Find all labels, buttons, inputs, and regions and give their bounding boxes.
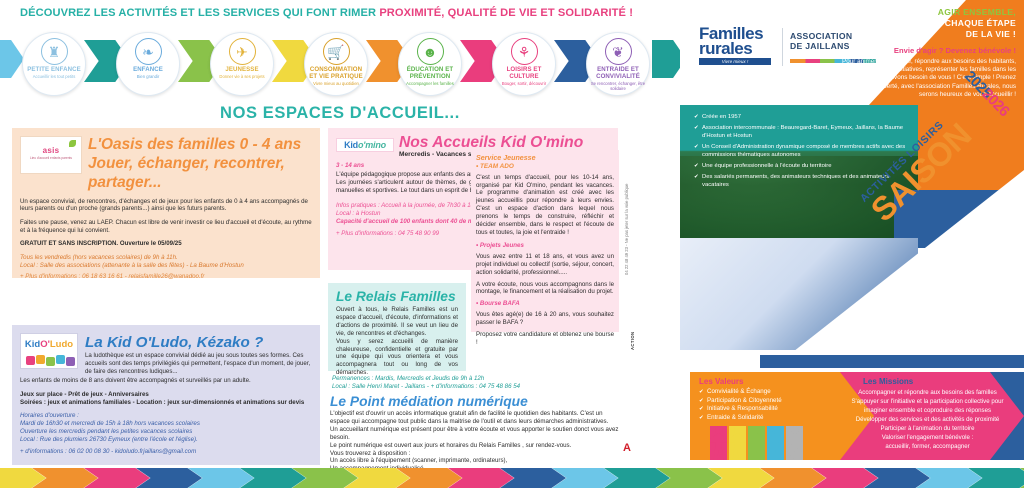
mission-item-5: Valoriser l'engagement bénévole : (840, 433, 1015, 442)
oasis-p4b: Local : Salle des associations (attenant… (20, 262, 312, 270)
oasis-p5: + Plus d'informations : 06 18 63 16 61 -… (20, 273, 312, 281)
relais-heading: Le Relais Familles (336, 289, 458, 304)
sports-icon: ⚘ (511, 38, 538, 65)
right-panel: Familles rurales Vivre mieux ! ASSOCIATI… (680, 0, 1024, 488)
projets-jeunes-title: • Projets Jeunes (476, 242, 614, 250)
credit-notice: Ne pas jeter sur la voie publique (624, 183, 629, 243)
missions-list: Accompagner et répondre aux besoins des … (840, 388, 1015, 451)
top-banner: DÉCOUVREZ LES ACTIVITÉS ET LES SERVICES … (0, 0, 680, 100)
highchair-icon: ♜ (41, 38, 68, 65)
bourse-bafa-body1: Vous êtes agé(e) de 16 à 20 ans, vous so… (476, 311, 614, 327)
poster-page: DÉCOUVREZ LES ACTIVITÉS ET LES SERVICES … (0, 0, 1024, 488)
step-title-2: ENFANCE (117, 66, 179, 73)
slogan-agir: AGIR (913, 7, 938, 17)
leaf-icon (69, 140, 76, 147)
kidoludo-logo: KidO'Ludo (20, 333, 78, 369)
slogan-white1: À CHAQUE ÉTAPE (936, 18, 1016, 28)
logo-divider (782, 28, 783, 66)
ludo-p5: + d'informations : 06 02 00 08 30 - kido… (20, 448, 312, 456)
assoc-heading: L'association en quelques mots : (694, 94, 909, 103)
step-subtitle-2: Bien grandir (117, 74, 179, 79)
step-subtitle-5: Accompagner les familles (399, 81, 461, 86)
step-bubble-2[interactable]: ❧ENFANCEBien grandir (116, 32, 180, 96)
credit-agency: ACTION (630, 332, 635, 350)
familles-rurales-logo: Familles rurales Vivre mieux ! ASSOCIATI… (699, 26, 771, 65)
oasis-logo: asis Lieu d'accueil enfants parents (20, 136, 82, 174)
valeur-item-2: Participation & Citoyenneté (699, 397, 782, 406)
step-chevron-strip: ♜PETITE ENFANCEAccueillir les tout petit… (0, 28, 680, 94)
card-point-numerique: Le Point médiation numérique L'objectif … (330, 394, 620, 464)
step-bubble-5[interactable]: ☻ÉDUCATION ET PRÉVENTIONAccompagner les … (398, 32, 462, 96)
relais-contact: Permanences : Mardis, Mercredis et Jeudi… (332, 375, 617, 391)
step-subtitle-4: Vivre mieux au quotidien (305, 81, 367, 86)
headline: DÉCOUVREZ LES ACTIVITÉS ET LES SERVICES … (20, 7, 670, 19)
panel-service-jeunesse: Service Jeunesse • TEAM ADO C'est un tem… (471, 150, 619, 332)
projets-jeunes-body1: Vous avez entre 11 et 18 ans, et vous av… (476, 253, 614, 277)
ludo-p4a: Horaires d'ouverture : (20, 412, 312, 420)
bourse-bafa-body2: Proposez votre candidature et obtenez un… (476, 331, 614, 347)
kidomino-logo: Kido'mino (336, 138, 394, 152)
projets-jeunes-body2: A votre écoute, nous vous accompagnons d… (476, 281, 614, 297)
saison-year2: 2026 (979, 86, 1012, 119)
step-subtitle-6: Bouger, sortir, découvrir (493, 81, 555, 86)
point-p2: Un accueillant numérique est présent pou… (330, 426, 620, 442)
logo-badge: Vivre mieux ! (699, 58, 771, 65)
point-p3: Le point numérique est ouvert aux jours … (330, 442, 620, 450)
step-title-5: ÉDUCATION ET PRÉVENTION (399, 66, 461, 80)
mission-item-6: accueillir, former, accompagner (840, 442, 1015, 451)
card-oasis: asis Lieu d'accueil enfants parents L'Oa… (12, 128, 320, 278)
mission-item-2: S'appuyer sur l'initiative et la partici… (840, 397, 1015, 415)
card-relais-familles: Le Relais Familles Ouvert à tous, le Rel… (328, 283, 466, 371)
slogan: AGIR AGIR ENSEMBLE, À CHAQUE ÉTAPE DE LA… (831, 7, 1016, 41)
mission-item-3: Développer des services et des activités… (840, 415, 1015, 424)
step-bubble-7[interactable]: ❦ENTRAIDE ET CONVIVIALITÉSe rencontrer, … (586, 32, 650, 96)
valeurs-title: Les Valeurs (699, 377, 743, 386)
point-p5: Un accès libre à l'équipement (scanner, … (330, 457, 620, 465)
credit-agency-name: ACTION (630, 332, 635, 350)
step-bubble-1[interactable]: ♜PETITE ENFANCEAccueillir les tout petit… (22, 32, 86, 96)
kidomino-heading: Nos Accueils Kid O'mino (399, 134, 583, 151)
kidoludo-logo-text: KidO'Ludo (21, 334, 77, 351)
point-heading: Le Point médiation numérique (330, 394, 620, 409)
ludo-p4d: Local : Rue des plumiers 26730 Eymeux (e… (20, 436, 312, 444)
step-title-4: CONSOMMATION ET VIE PRATIQUE (305, 66, 367, 80)
kidomino-o: o'mino (358, 140, 386, 150)
oasis-p4a: Tous les vendredis (hors vacances scolai… (20, 254, 312, 262)
family-face-icon: ☻ (417, 38, 444, 65)
relais-p1: Ouvert à tous, le Relais Familles est un… (336, 306, 458, 338)
headline-part1: DÉCOUVREZ LES ACTIVITÉS ET LES SERVICES … (20, 7, 379, 19)
handshake-icon: ❦ (605, 38, 632, 65)
step-bubble-6[interactable]: ⚘LOISIRS ET CULTUREBouger, sortir, décou… (492, 32, 556, 96)
step-subtitle-1: Accueillir les tout petits (23, 74, 85, 79)
ludo-o: O' (40, 339, 50, 350)
kidomino-k: Kid (344, 140, 358, 150)
section-title: NOS ESPACES D'ACCUEIL... (0, 104, 680, 123)
assoc-item-3: Un Conseil d'Administration dynamique co… (694, 143, 916, 159)
cta-title: Envie d'agir ? Devenez bénévole ! (826, 46, 1016, 55)
megaphone-icon: ✈ (229, 38, 256, 65)
valeurs-missions-strip: Les Valeurs Convivialité & ÉchangePartic… (680, 372, 1024, 460)
ludo-p2: Les enfants de moins de 8 ans doivent êt… (20, 377, 312, 385)
ludo-p3a: Jeux sur place - Prêt de jeux - Annivers… (20, 391, 312, 399)
missions-title: Les Missions (863, 377, 913, 386)
step-subtitle-7: Se rencontrer, échanger, être solidaire (587, 81, 649, 91)
credit-phone: 04 22 48 49 23 (624, 247, 629, 275)
step-bubble-3[interactable]: ✈JEUNESSEDonner vie à ses projets (210, 32, 274, 96)
balloons-icon: ❧ (135, 38, 162, 65)
credit-text: 04 22 48 49 23 - Ne pas jeter sur la voi… (624, 183, 629, 275)
team-ado-title: • TEAM ADO (476, 163, 614, 171)
step-title-7: ENTRAIDE ET CONVIVIALITÉ (587, 66, 649, 80)
team-ado-body: C'est un temps d'accueil, pour les 10-14… (476, 174, 614, 237)
oasis-p3: GRATUIT ET SANS INSCRIPTION. Ouverture l… (20, 240, 312, 248)
step-title-1: PETITE ENFANCE (23, 66, 85, 73)
assoc-item-2: Association intercommunale : Beauregard-… (694, 124, 916, 140)
credit-agency-mark: A (623, 443, 631, 454)
oasis-body: Un espace convivial, de rencontres, d'éc… (20, 198, 312, 281)
ludo-k: Kid (25, 339, 40, 350)
slogan-green: AGIR ENSEMBLE, (938, 7, 1016, 17)
point-p1: L'objectif est d'ouvrir un accès informa… (330, 410, 620, 426)
bottom-chevron-strip (0, 468, 1024, 488)
mission-item-1: Accompagner et répondre aux besoins des … (840, 388, 1015, 397)
step-title-3: JEUNESSE (211, 66, 273, 73)
puzzle-pieces-icon (24, 354, 76, 367)
card-kid-oludo: KidO'Ludo La Kid O'Ludo, Kézako ? La lud… (12, 325, 320, 465)
assoc-item-4: Une équipe professionnelle à l'écoute du… (694, 162, 916, 170)
step-title-6: LOISIRS ET CULTURE (493, 66, 555, 80)
slogan-white2: DE LA VIE ! (966, 29, 1016, 39)
shopping-cart-icon: 🛒 (323, 38, 350, 65)
valeur-item-3: Initiative & Responsabilité (699, 405, 782, 414)
ludo-p4b: Mardi de 16h30 et mercredi de 15h à 18h … (20, 420, 312, 428)
headline-part2: PROXIMITÉ, QUALITÉ DE VIE ET SOLIDARITÉ … (379, 7, 633, 19)
oasis-logo-sub: Lieu d'accueil enfants parents (21, 156, 81, 160)
bourse-bafa-title: • Bourse BAFA (476, 300, 614, 308)
ludo-l: Ludo (50, 339, 73, 350)
relais-p3: Permanences : Mardis, Mercredis et Jeudi… (332, 375, 617, 383)
blue-band (760, 355, 1024, 368)
valeur-item-1: Convivialité & Échange (699, 388, 782, 397)
logo-line2: rurales (699, 41, 771, 56)
people-chain-icon (710, 418, 830, 460)
step-subtitle-3: Donner vie à ses projets (211, 74, 273, 79)
mission-item-4: Participer à l'animation du territoire (840, 424, 1015, 433)
ludo-p1: La ludothèque est un espace convivial dé… (85, 352, 312, 376)
assoc-item-1: Créée en 1957 (694, 113, 916, 121)
relais-p4: Local : Salle Henri Maret - Jaillans - +… (332, 383, 617, 391)
ludo-p4c: Ouverture les mercredis pendant les peti… (20, 428, 312, 436)
oasis-p1: Un espace convivial, de rencontres, d'éc… (20, 198, 312, 214)
relais-p2: Vous y serez accueilli de manière chaleu… (336, 338, 458, 378)
service-jeunesse-title: Service Jeunesse (476, 154, 614, 163)
ludo-p3b: Soirées : jeux et animations familiales … (20, 399, 312, 407)
point-p4: Vous trouverez à disposition : (330, 450, 620, 458)
step-bubble-4[interactable]: 🛒CONSOMMATION ET VIE PRATIQUEVivre mieux… (304, 32, 368, 96)
oasis-p2: Faites une pause, venez au LAEP. Chacun … (20, 219, 312, 235)
